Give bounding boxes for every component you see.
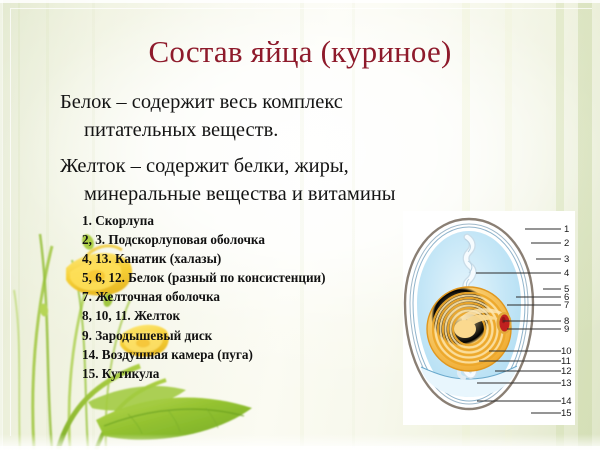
- paragraph-protein-line1: Белок – содержит весь комплекс: [60, 91, 343, 113]
- yolk: [427, 287, 512, 371]
- body-text: Белок – содержит весь комплекс питательн…: [60, 88, 412, 216]
- list-item: 7. Желточная оболочка: [82, 287, 412, 306]
- germinal-disc: [497, 312, 512, 334]
- callout-number: 14: [561, 396, 572, 407]
- paragraph-yolk-line2: минеральные вещества и витамины: [84, 183, 396, 205]
- callout-number: 15: [561, 408, 572, 419]
- slide: Состав яйца (куриное) Белок – содержит в…: [0, 0, 600, 450]
- paragraph-protein-line2: питательных веществ.: [84, 119, 278, 141]
- callout-number: 3: [564, 254, 569, 265]
- callout-number: 7: [564, 300, 569, 311]
- paragraph-protein: Белок – содержит весь комплекс питательн…: [60, 88, 412, 144]
- list-item: 4, 13. Канатик (халазы): [82, 249, 412, 268]
- list-item: 5, 6, 12. Белок (разный по консистенции): [82, 268, 412, 287]
- callout-number: 13: [561, 378, 572, 389]
- list-item: 1. Скорлупа: [82, 211, 412, 230]
- page-title: Состав яйца (куриное): [0, 34, 600, 70]
- callout-number: 4: [564, 268, 569, 279]
- callout-number: 9: [564, 324, 569, 335]
- callout-number: 1: [564, 224, 569, 235]
- egg-diagram: 1 2 3 4 5 6 7 8 9 10 11 12 13 14 15: [403, 211, 575, 425]
- paragraph-yolk-line1: Желток – содержит белки, жиры,: [60, 155, 349, 177]
- paragraph-yolk: Желток – содержит белки, жиры, минеральн…: [60, 152, 412, 208]
- list-item: 15. Кутикула: [82, 364, 412, 383]
- list-item: 2, 3. Подскорлуповая оболочка: [82, 230, 412, 249]
- list-item: 8, 10, 11. Желток: [82, 306, 412, 325]
- legend-list: 1. Скорлупа 2, 3. Подскорлуповая оболочк…: [82, 211, 412, 383]
- callout-number: 2: [564, 238, 569, 249]
- callout-number: 12: [561, 366, 572, 377]
- list-item: 14. Воздушная камера (пуга): [82, 345, 412, 364]
- list-item: 9. Зародышевый диск: [82, 326, 412, 345]
